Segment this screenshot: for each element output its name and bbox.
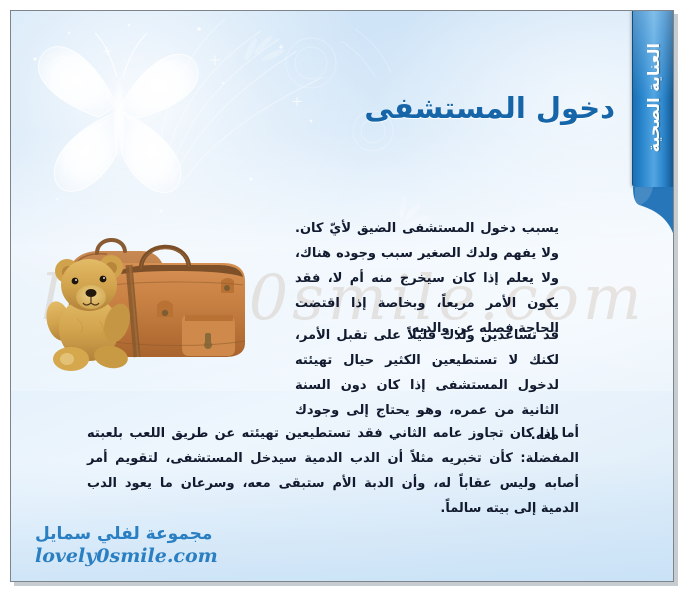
side-tab-health-care[interactable]: العناية الصحية — [632, 10, 673, 187]
background-glow-right — [373, 10, 674, 251]
side-tab-label: العناية الصحية — [644, 43, 663, 152]
footer-logo[interactable]: مجموعة لفلي سمايل lovely0smile.com — [35, 524, 295, 567]
side-tab-tail — [633, 187, 673, 233]
butterfly-decoration — [17, 13, 227, 213]
paragraph-3: أما إذا كان تجاوز عامه الثاني فقد تستطيع… — [87, 421, 579, 521]
page-title: دخول المستشفى — [364, 91, 615, 125]
screenshot-root: العناية الصحية دخول المستشفى lovely0smil… — [0, 0, 692, 601]
footer-website[interactable]: lovely0smile.com — [35, 545, 295, 567]
slide-card: العناية الصحية دخول المستشفى lovely0smil… — [10, 10, 674, 582]
footer-brand-arabic: مجموعة لفلي سمايل — [35, 524, 295, 544]
sparkle-decoration — [11, 11, 341, 241]
paragraph-3-text: أما إذا كان تجاوز عامه الثاني فقد تستطيع… — [87, 421, 579, 521]
teddy-bear-and-bag-image — [37, 223, 267, 383]
